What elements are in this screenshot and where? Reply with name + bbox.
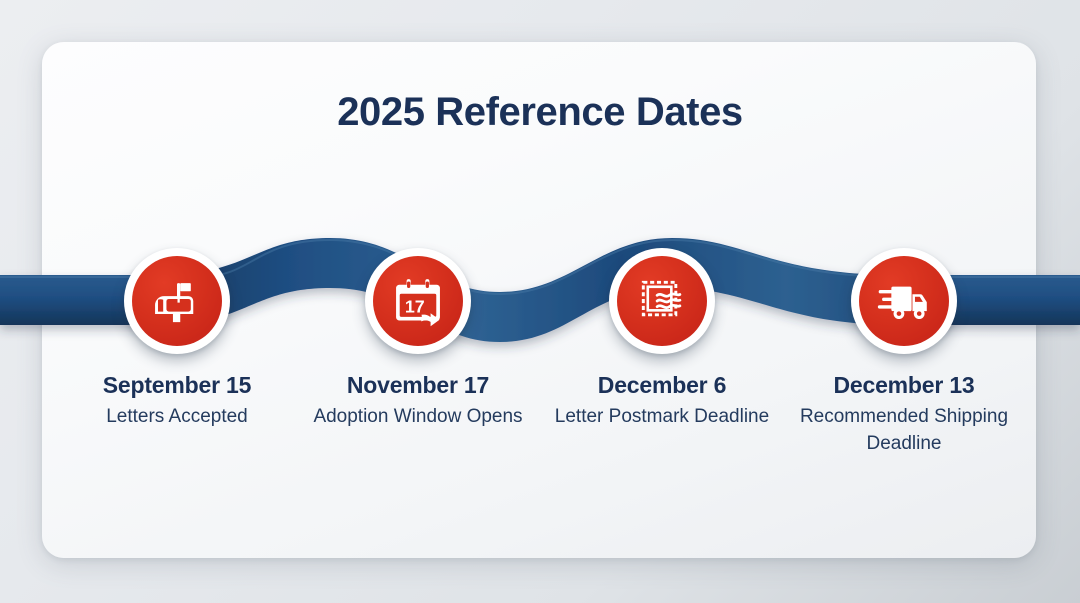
milestone-date: December 13	[788, 372, 1020, 399]
milestone-node-fill: 17	[373, 256, 463, 346]
postmark-stamp-icon	[636, 275, 688, 327]
milestone-date: September 15	[61, 372, 293, 399]
milestone-node[interactable]	[124, 248, 230, 354]
milestone-caption: December 6 Letter Postmark Deadline	[546, 372, 778, 431]
milestone-node[interactable]	[609, 248, 715, 354]
milestone-node-fill	[617, 256, 707, 346]
milestone-node-fill	[132, 256, 222, 346]
milestone-caption: December 13 Recommended Shipping Deadlin…	[788, 372, 1020, 458]
mailbox-icon	[151, 275, 203, 327]
milestone-description: Recommended Shipping Deadline	[788, 404, 1020, 458]
milestone-node[interactable]	[851, 248, 957, 354]
milestone-description: Letters Accepted	[61, 404, 293, 431]
milestone-item[interactable]: December 13 Recommended Shipping Deadlin…	[782, 248, 1026, 458]
milestone-caption: September 15 Letters Accepted	[61, 372, 293, 431]
milestone-item[interactable]: September 15 Letters Accepted	[55, 248, 299, 431]
milestone-description: Adoption Window Opens	[302, 404, 534, 431]
milestone-caption: November 17 Adoption Window Opens	[302, 372, 534, 431]
delivery-truck-icon	[877, 274, 931, 328]
milestone-description: Letter Postmark Deadline	[546, 404, 778, 431]
milestone-date: November 17	[302, 372, 534, 399]
milestone-item[interactable]: December 6 Letter Postmark Deadline	[540, 248, 784, 431]
calendar-forward-icon: 17	[392, 275, 444, 327]
infographic-stage: 2025 Reference Dates	[0, 0, 1080, 603]
page-title: 2025 Reference Dates	[0, 90, 1080, 135]
milestone-item[interactable]: 17 November 17 Adoption Window Opens	[296, 248, 540, 431]
svg-text:17: 17	[405, 296, 425, 316]
milestone-date: December 6	[546, 372, 778, 399]
milestone-node[interactable]: 17	[365, 248, 471, 354]
milestone-node-fill	[859, 256, 949, 346]
